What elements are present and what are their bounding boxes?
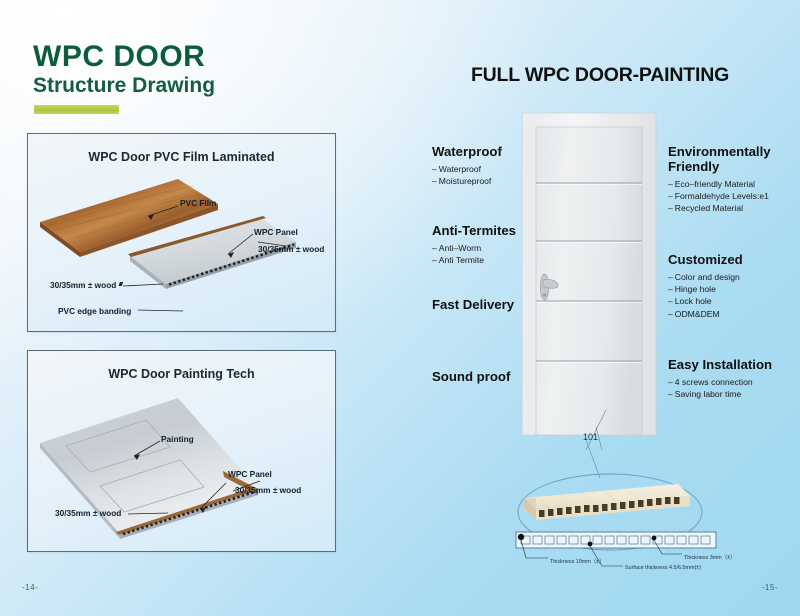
feature-item: Lock hole	[668, 295, 743, 307]
feature-item: Anti Termite	[432, 254, 516, 266]
feature-heading: Customized	[668, 253, 743, 268]
feature-item: Recycled Material	[668, 202, 800, 214]
page-number-left: -14-	[22, 583, 38, 592]
feature-heading: Fast Delivery	[432, 298, 514, 313]
diagram1-label-thickness-right: 30/35mm ± wood	[258, 244, 324, 254]
feature-item: Moistureproof	[432, 175, 502, 187]
diagram2-illustration	[28, 351, 335, 551]
feature-sound-proof: Sound proof	[432, 370, 510, 385]
measurement-surface-thickness: Surface thickness 4.5/6.5mm(±)	[625, 565, 701, 571]
feature-item: Formaldehyde Levels:e1	[668, 190, 800, 202]
feature-waterproof: Waterproof Waterproof Moistureproof	[432, 145, 502, 187]
feature-item: Saving labor time	[668, 388, 772, 400]
measurement-thickness-3mm: Thickness 3mm（±）	[684, 553, 735, 561]
diagram-box-painting-tech: WPC Door Painting Tech	[27, 350, 336, 552]
page-title: WPC DOOR	[33, 42, 205, 72]
feature-heading: Anti-Termites	[432, 224, 516, 239]
feature-item: Anti–Worm	[432, 242, 516, 254]
feature-heading: Sound proof	[432, 370, 510, 385]
diagram2-label-thickness-left: 30/35mm ± wood	[55, 508, 121, 518]
feature-heading: Easy Installation	[668, 358, 772, 373]
feature-item: Hinge hole	[668, 283, 743, 295]
door-illustration	[510, 105, 680, 450]
diagram1-label-pvc-film: PVC Film	[180, 198, 216, 208]
feature-heading: Environmentally Friendly	[668, 145, 800, 175]
diagram1-label-edge-banding: PVC edge banding	[58, 306, 131, 316]
left-page: WPC DOOR Structure Drawing WPC Door PVC …	[0, 0, 400, 616]
feature-fast-delivery: Fast Delivery	[432, 298, 514, 313]
diagram-box-pvc-film: WPC Door PVC Film Laminated	[27, 133, 336, 332]
feature-item: ODM&DEM	[668, 308, 743, 320]
diagram1-label-wpc-panel: WPC Panel	[254, 227, 298, 237]
diagram2-label-painting: Painting	[161, 434, 194, 444]
catalog-page: WPC DOOR Structure Drawing WPC Door PVC …	[0, 0, 800, 616]
measurement-thickness-19mm: Thickness 19mm（±）	[550, 557, 604, 565]
feature-anti-termites: Anti-Termites Anti–Worm Anti Termite	[432, 224, 516, 266]
feature-item: Eco–friendly Material	[668, 178, 800, 190]
right-page-title: FULL WPC DOOR-PAINTING	[400, 64, 800, 87]
feature-item: 4 screws connection	[668, 376, 772, 388]
feature-item: Waterproof	[432, 163, 502, 175]
page-number-right: -15-	[762, 583, 778, 592]
right-page: FULL WPC DOOR-PAINTING	[400, 0, 800, 616]
feature-heading: Waterproof	[432, 145, 502, 160]
diagram2-label-thickness-right: 30/35mm ± wood	[235, 485, 301, 495]
diagram1-label-thickness-left: 30/35mm ± wood	[50, 280, 116, 290]
accent-bar	[34, 105, 119, 114]
feature-customized: Customized Color and design Hinge hole L…	[668, 253, 743, 320]
panel-cross-section-illustration	[490, 440, 790, 570]
page-subtitle: Structure Drawing	[33, 75, 215, 96]
feature-environmentally-friendly: Environmentally Friendly Eco–friendly Ma…	[668, 145, 800, 214]
feature-easy-installation: Easy Installation 4 screws connection Sa…	[668, 358, 772, 400]
diagram2-label-wpc-panel: WPC Panel	[228, 469, 272, 479]
feature-item: Color and design	[668, 271, 743, 283]
